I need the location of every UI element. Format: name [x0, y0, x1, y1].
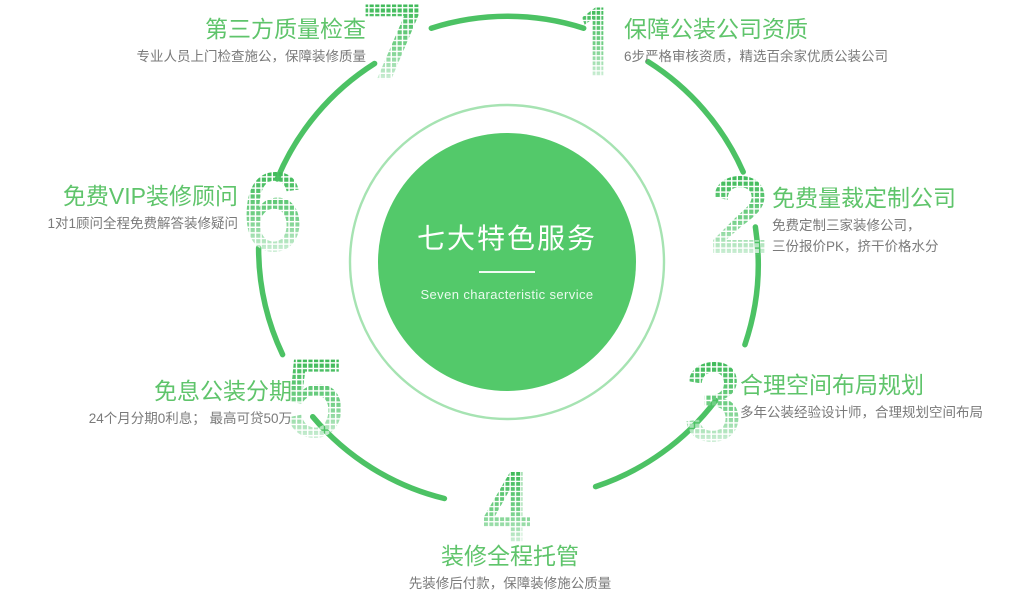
service-item-6: 免费VIP装修顾问 1对1顾问全程免费解答装修疑问	[0, 183, 238, 235]
service-item-7: 第三方质量检查 专业人员上门检查施公，保障装修质量	[0, 16, 366, 68]
service-item-5-title: 免息公装分期	[0, 378, 292, 404]
arc-segment-lower-left	[313, 417, 445, 499]
arc-segment-left	[259, 248, 283, 355]
service-item-3-title: 合理空间布局规划	[740, 372, 983, 398]
service-item-6-title: 免费VIP装修顾问	[0, 183, 238, 209]
arc-segment-upper-left	[277, 64, 374, 180]
service-item-6-desc-line-1: 1对1顾问全程免费解答装修疑问	[0, 214, 238, 235]
service-item-2-title: 免费量裁定制公司	[772, 185, 956, 211]
service-item-1: 保障公装公司资质 6步严格审核资质，精选百余家优质公装公司	[624, 16, 888, 68]
infographic-canvas: 七大特色服务 Seven characteristic service	[0, 0, 1034, 615]
service-item-4-desc-line-1: 先装修后付款，保障装修施公质量	[310, 574, 710, 595]
service-item-7-desc-line-1: 专业人员上门检查施公，保障装修质量	[0, 47, 366, 68]
service-item-3-desc-line-1: 多年公装经验设计师，合理规划空间布局	[740, 403, 983, 424]
service-item-4-title: 装修全程托管	[310, 543, 710, 569]
service-item-1-title: 保障公装公司资质	[624, 16, 888, 42]
service-item-5: 免息公装分期 24个月分期0利息； 最高可贷50万	[0, 378, 292, 430]
service-item-1-desc-line-1: 6步严格审核资质，精选百余家优质公装公司	[624, 47, 888, 68]
service-item-2: 免费量裁定制公司 免费定制三家装修公司， 三份报价PK，挤干价格水分	[772, 185, 956, 258]
center-disc	[378, 133, 636, 391]
arc-segment-top	[431, 16, 583, 28]
arc-segment-lower-right	[596, 401, 716, 487]
service-item-2-desc-line-2: 三份报价PK，挤干价格水分	[772, 237, 956, 258]
service-item-2-desc-line-1: 免费定制三家装修公司，	[772, 216, 956, 237]
service-item-3: 合理空间布局规划 多年公装经验设计师，合理规划空间布局	[740, 372, 983, 424]
radial-ring-graphic	[0, 0, 1034, 615]
service-item-4: 装修全程托管 先装修后付款，保障装修施公质量	[310, 543, 710, 595]
service-item-7-title: 第三方质量检查	[0, 16, 366, 42]
service-item-5-desc-line-1: 24个月分期0利息； 最高可贷50万	[0, 409, 292, 430]
arc-segment-right	[745, 227, 758, 345]
arc-segment-upper-right	[648, 62, 743, 172]
